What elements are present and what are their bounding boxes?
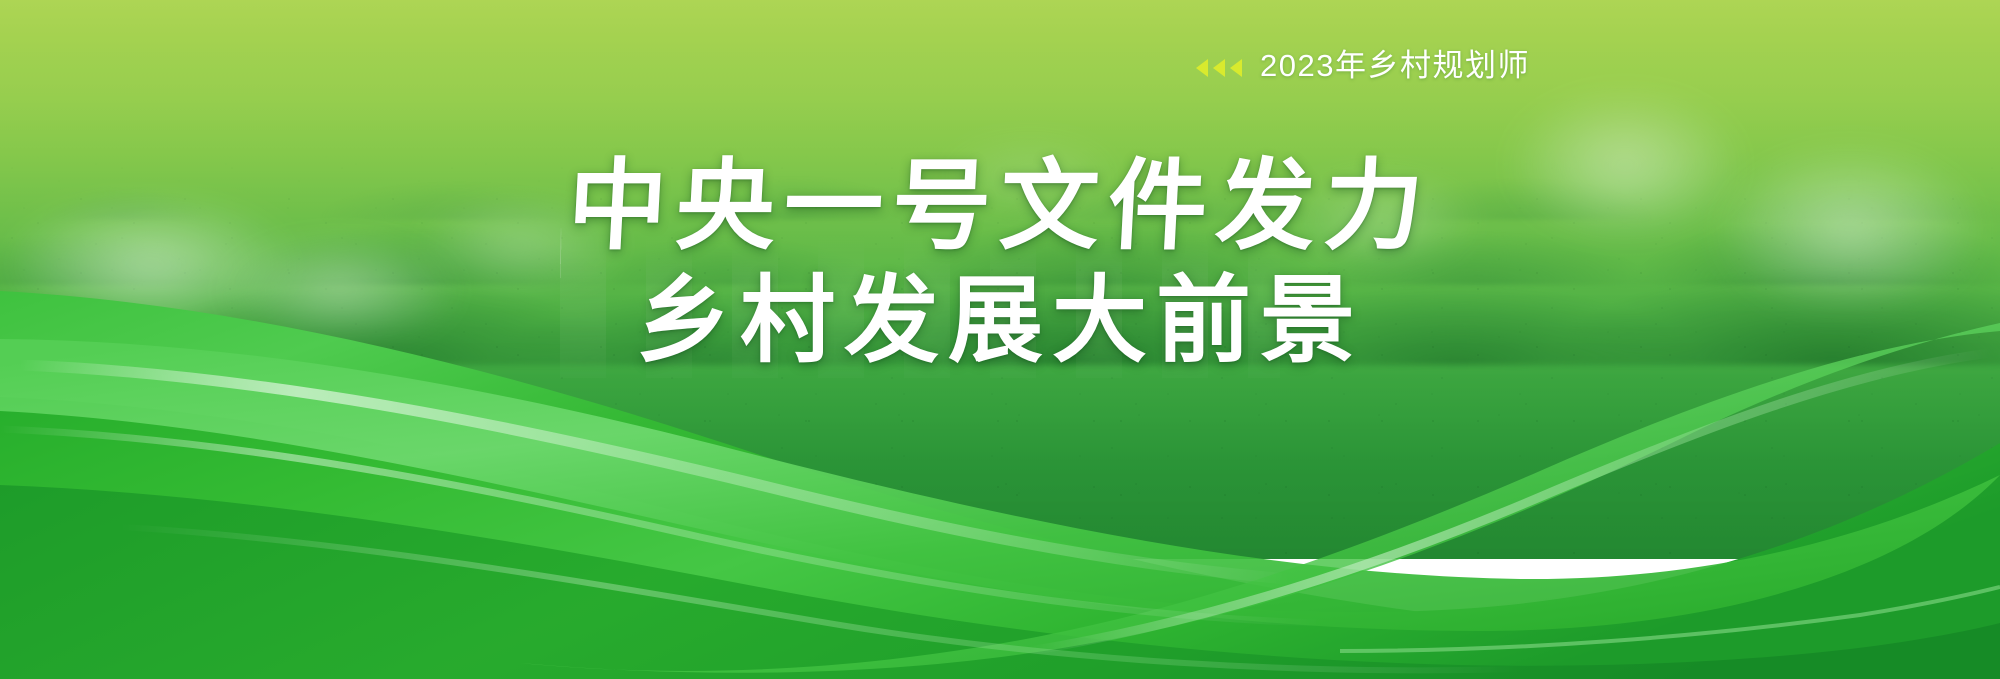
wave-ribbon-decoration [0,279,2000,679]
eyebrow-text: 2023年乡村规划师 [1260,50,1530,81]
rural-planner-hero-banner: 2023年乡村规划师 中央一号文件发力 乡村发展大前景 [0,0,2000,679]
eyebrow-label: 2023年乡村规划师 [1196,50,1530,81]
wave-ribbon-svg [0,279,2000,679]
left-triangle-icon [1196,59,1208,77]
triple-left-triangle-icon [1196,59,1242,77]
left-triangle-icon [1230,59,1242,77]
left-triangle-icon [1213,59,1225,77]
